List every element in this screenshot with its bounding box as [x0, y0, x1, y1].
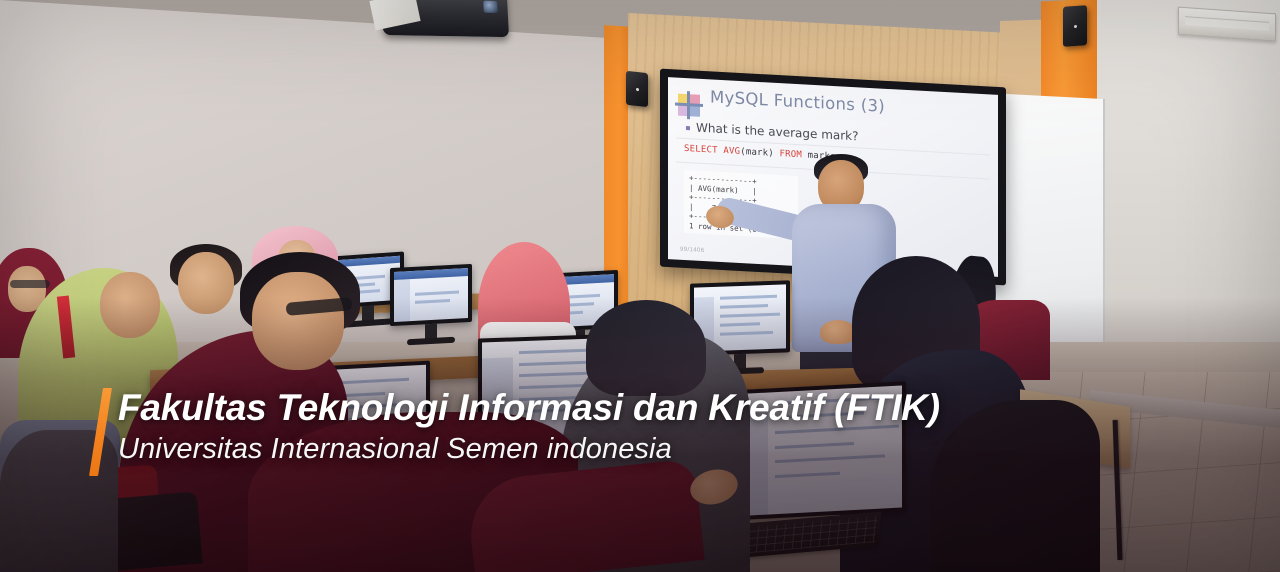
slide-footer: 99/1406 — [680, 247, 705, 254]
student-head — [252, 272, 344, 370]
content-line — [720, 331, 773, 336]
sidebar-pane — [394, 279, 410, 322]
speaker-led — [636, 88, 639, 91]
content-line — [519, 360, 596, 366]
monitor-content — [394, 268, 468, 322]
student-head-dark — [586, 300, 706, 396]
projector-lens — [483, 1, 498, 13]
hero-banner: MySQL Functions (3) What is the average … — [0, 0, 1280, 572]
content-line — [415, 291, 459, 296]
slide-title: MySQL Functions (3) — [710, 87, 885, 115]
content-line — [720, 313, 781, 318]
content-line — [720, 322, 760, 326]
banner-headline: Fakultas Teknologi Informasi dan Kreatif… — [118, 386, 1118, 430]
banner-text-block: Fakultas Teknologi Informasi dan Kreatif… — [118, 386, 1118, 468]
instructor-hands — [820, 320, 856, 344]
sql-function-avg: AVG — [723, 146, 740, 157]
logo-square-blue — [689, 105, 700, 117]
student-head — [178, 252, 234, 314]
eyeglasses-icon — [10, 280, 50, 288]
content-line — [720, 295, 777, 300]
banner-subline: Universitas Internasional Semen indonesi… — [118, 430, 1118, 468]
content-line — [415, 299, 451, 304]
student-head — [100, 272, 160, 338]
slide-logo-icon — [678, 94, 700, 117]
vent-slot — [1185, 16, 1269, 31]
sql-column-arg: (mark) — [740, 147, 774, 159]
sql-keyword-select: SELECT — [684, 144, 718, 156]
sql-keyword-from: FROM — [780, 149, 802, 160]
window-titlebar — [394, 268, 468, 280]
speaker-icon-right — [1063, 5, 1087, 47]
content-line — [720, 304, 768, 309]
monitor — [390, 264, 472, 326]
monitor-screen — [390, 264, 472, 326]
speaker-icon-left — [626, 71, 648, 107]
content-line — [775, 472, 840, 478]
speaker-led — [1074, 25, 1077, 28]
bullet-marker-icon — [686, 126, 690, 130]
